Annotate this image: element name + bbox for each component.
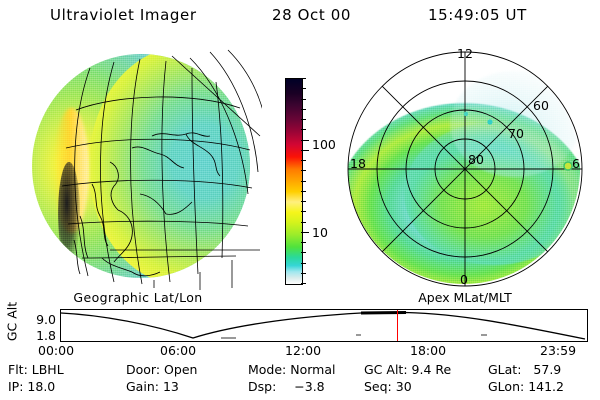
latitude-label-80: 80 <box>468 152 484 167</box>
geographic-image-panel[interactable]: Geographic Lat/Lon <box>14 44 262 292</box>
header-bar: Ultraviolet Imager 28 Oct 00 15:49:05 UT <box>0 6 600 32</box>
colorbar-tick-marks <box>301 78 323 283</box>
timeline-x-tick-0000: 00:00 <box>38 343 74 358</box>
status-mode-value: Normal <box>290 362 335 377</box>
timeline-x-tick-2359: 23:59 <box>540 343 576 358</box>
timeline-plot-box[interactable] <box>60 309 588 342</box>
page-title: Ultraviolet Imager <box>50 6 197 24</box>
status-door-value: Open <box>164 362 197 377</box>
mlt-label-0: 0 <box>460 272 468 287</box>
status-filter-label: Flt: <box>8 362 28 377</box>
colorbar-tick-label-100: 100 <box>312 137 336 152</box>
status-glat: GLat: 57.9 <box>488 362 561 377</box>
status-filter-value: LBHL <box>32 362 64 377</box>
status-glat-label: GLat: <box>488 362 521 377</box>
mlt-label-18: 18 <box>350 156 366 171</box>
timeline-x-tick-1200: 12:00 <box>285 343 321 358</box>
mlt-label-6: 6 <box>572 156 580 171</box>
status-ip-label: IP: <box>8 379 23 394</box>
timeline-y-axis-label: GC Alt <box>5 294 20 350</box>
colorbar-panel: photon cm-2s-1 100 10 <box>262 44 340 294</box>
status-gain-value: 13 <box>163 379 179 394</box>
status-seq: Seq: 30 <box>364 379 412 394</box>
status-readout-panel: Flt: LBHL IP: 18.0 Door: Open Gain: 13 M… <box>8 362 596 398</box>
apex-polar-panel[interactable]: 12 18 6 0 60 70 80 Apex MLat/MLT <box>340 44 590 294</box>
status-door: Door: Open <box>126 362 197 377</box>
status-gain-label: Gain: <box>126 379 159 394</box>
status-dsp: Dsp: −3.8 <box>248 379 325 394</box>
observation-time: 15:49:05 UT <box>428 6 527 24</box>
status-gc-alt-label: GC Alt: <box>364 362 408 377</box>
timeline-y-tick-min: 1.8 <box>26 328 56 343</box>
latitude-label-60: 60 <box>533 98 549 113</box>
status-mode-label: Mode: <box>248 362 286 377</box>
polar-grid-overlay <box>340 44 590 294</box>
observation-date: 28 Oct 00 <box>272 6 351 24</box>
timeline-y-tick-max: 9.0 <box>26 312 56 327</box>
status-filter: Flt: LBHL <box>8 362 64 377</box>
geographic-grid-overlay <box>14 44 262 292</box>
timeline-x-tick-1800: 18:00 <box>410 343 446 358</box>
status-dsp-value: −3.8 <box>294 379 324 394</box>
mlt-label-12: 12 <box>457 46 473 61</box>
status-gc-alt: GC Alt: 9.4 Re <box>364 362 451 377</box>
status-mode: Mode: Normal <box>248 362 336 377</box>
latitude-label-70: 70 <box>508 126 524 141</box>
current-time-marker <box>397 310 398 341</box>
bright-spot-marker <box>564 162 572 170</box>
status-glon-label: GLon: <box>488 379 524 394</box>
status-seq-label: Seq: <box>364 379 392 394</box>
status-ip: IP: 18.0 <box>8 379 55 394</box>
gc-altitude-timeline[interactable]: GC Alt 9.0 1.8 00:00 06:00 12:00 18:00 2… <box>0 300 600 352</box>
status-door-label: Door: <box>126 362 160 377</box>
status-glon-value: 141.2 <box>528 379 564 394</box>
status-seq-value: 30 <box>396 379 412 394</box>
timeline-x-tick-0600: 06:00 <box>160 343 196 358</box>
colorbar-tick-label-10: 10 <box>312 225 328 240</box>
status-glat-value: 57.9 <box>533 362 561 377</box>
status-gc-alt-value: 9.4 Re <box>412 362 452 377</box>
status-ip-value: 18.0 <box>27 379 55 394</box>
status-dsp-label: Dsp: <box>248 379 276 394</box>
status-glon: GLon: 141.2 <box>488 379 564 394</box>
timeline-trace <box>61 310 587 341</box>
status-gain: Gain: 13 <box>126 379 179 394</box>
